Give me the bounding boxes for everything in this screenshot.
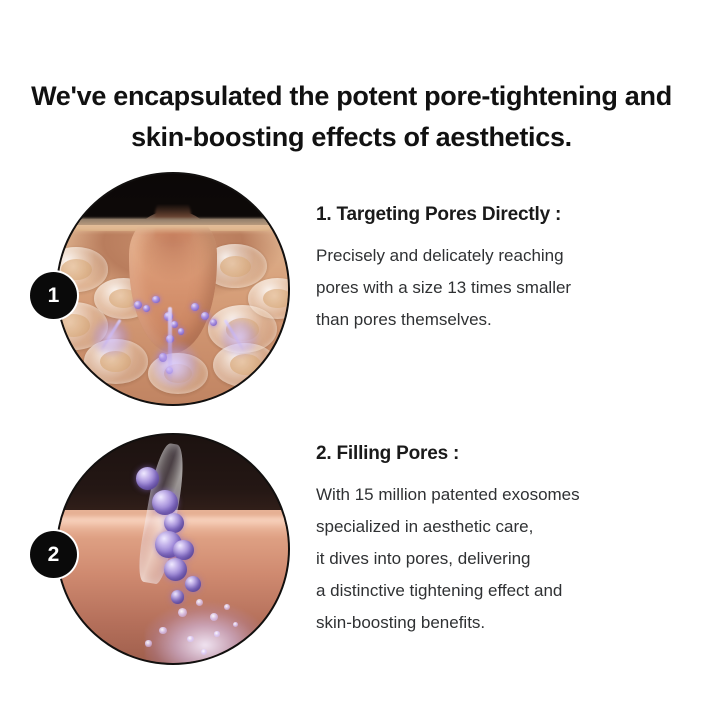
page-title-line-1: We've encapsulated the potent pore-tight… xyxy=(8,76,695,117)
section-1-body-line-2: pores with a size 13 times smaller xyxy=(316,272,688,304)
section-2-body: With 15 million patented exosomes specia… xyxy=(316,479,688,639)
step-number-badge-1: 1 xyxy=(30,272,77,319)
section-1-heading: 1. Targeting Pores Directly : xyxy=(316,204,688,226)
exosome-delivery-image xyxy=(56,433,290,665)
section-2-body-line-4: a distinctive tightening effect and xyxy=(316,575,688,607)
section-2-body-line-5: skin-boosting benefits. xyxy=(316,607,688,639)
pore-illustration-scene xyxy=(58,174,288,404)
section-2-body-line-2: specialized in aesthetic care, xyxy=(316,511,688,543)
section-2-heading: 2. Filling Pores : xyxy=(316,443,688,465)
pore-illustration-image xyxy=(56,172,290,406)
particle-burst xyxy=(145,576,288,665)
page-title-line-2: skin-boosting effects of aesthetics. xyxy=(8,117,695,158)
vignette-top xyxy=(56,172,290,225)
page-title: We've encapsulated the potent pore-tight… xyxy=(0,76,703,158)
section-1-body-line-3: than pores themselves. xyxy=(316,304,688,336)
section-1-media: 1 xyxy=(56,172,290,406)
section-2-media: 2 xyxy=(56,433,290,665)
section-1-text: 1. Targeting Pores Directly : Precisely … xyxy=(316,204,688,336)
section-2-text: 2. Filling Pores : With 15 million paten… xyxy=(316,443,688,639)
section-2-body-line-3: it dives into pores, delivering xyxy=(316,543,688,575)
step-number-badge-2: 2 xyxy=(30,531,77,578)
section-1-body-line-1: Precisely and delicately reaching xyxy=(316,240,688,272)
exosome-delivery-scene xyxy=(58,435,288,663)
section-1-body: Precisely and delicately reaching pores … xyxy=(316,240,688,336)
section-2-body-line-1: With 15 million patented exosomes xyxy=(316,479,688,511)
